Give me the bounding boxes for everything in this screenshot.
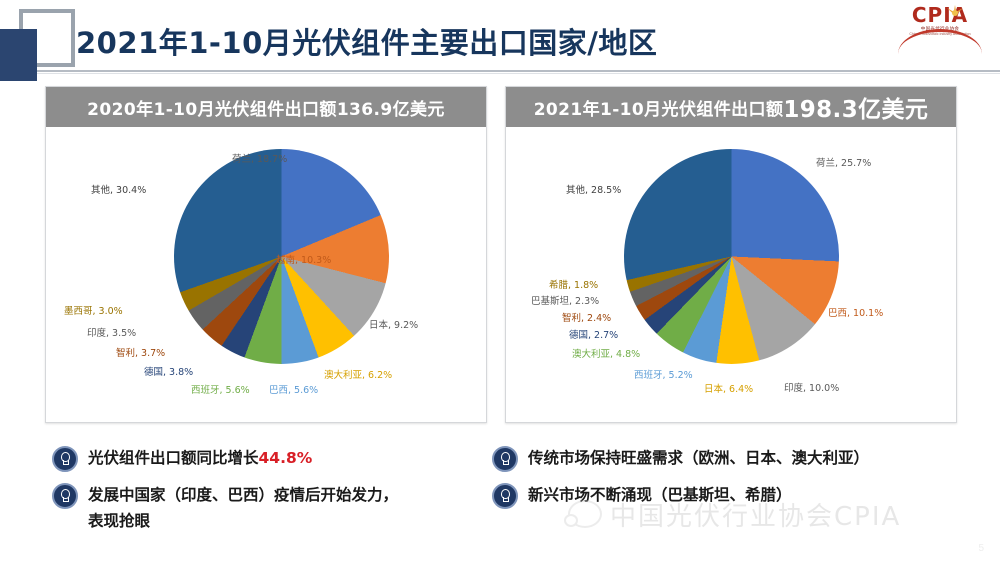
pie-label-2021-pakistan: 巴基斯坦, 2.3%: [531, 293, 599, 307]
pie-label-2021-brazil: 巴西, 10.1%: [828, 305, 883, 319]
bulb-badge-icon: [492, 483, 518, 509]
bullet-text-line1: 发展中国家（印度、巴西）疫情后开始发力，: [88, 486, 398, 504]
pie-label-2020-australia: 澳大利亚, 6.2%: [324, 367, 392, 381]
pie-label-2020-spain: 西班牙, 5.6%: [191, 382, 250, 396]
decorative-square-filled: [0, 29, 37, 81]
pie-label-2021-australia: 澳大利亚, 4.8%: [572, 346, 640, 360]
bullet-item: 光伏组件出口额同比增长44.8%: [52, 445, 482, 472]
bullet-item: 传统市场保持旺盛需求（欧洲、日本、澳大利亚）: [492, 445, 962, 472]
bullet-text: 光伏组件出口额同比增长44.8%: [88, 445, 312, 471]
pie-label-2021-germany: 德国, 2.7%: [569, 327, 618, 341]
header-divider-secondary: [37, 73, 1000, 74]
bullet-text-prefix: 光伏组件出口额同比增长: [88, 449, 259, 467]
pie-label-2021-chile: 智利, 2.4%: [562, 310, 611, 324]
bulb-badge-icon: [52, 446, 78, 472]
pie-label-2020-japan: 日本, 9.2%: [369, 317, 418, 331]
page-title: 2021年1-10月光伏组件主要出口国家/地区: [76, 20, 657, 62]
pie-label-2020-chile: 智利, 3.7%: [116, 345, 165, 359]
page-header: 2021年1-10月光伏组件主要出口国家/地区 CPIA 中国光伏行业协会 Ch…: [0, 0, 1000, 78]
cpia-logo: CPIA 中国光伏行业协会 China Photovoltaic Industr…: [892, 4, 988, 58]
pie-disc-2021: [624, 149, 839, 364]
pie-label-2020-others: 其他, 30.4%: [91, 182, 146, 196]
chart-title-2020: 2020年1-10月光伏组件出口额136.9亿美元: [46, 87, 486, 127]
chart-title-2021-value: 198.3亿美元: [783, 90, 928, 124]
bullet-list-left: 光伏组件出口额同比增长44.8% 发展中国家（印度、巴西）疫情后开始发力， 表现…: [52, 445, 482, 544]
header-divider: [37, 70, 1000, 72]
pie-label-2020-india: 印度, 3.5%: [87, 325, 136, 339]
pie-label-2021-greece: 希腊, 1.8%: [549, 277, 598, 291]
chart-body-2020: 荷兰, 18.7% 越南, 10.3% 日本, 9.2% 澳大利亚, 6.2% …: [46, 127, 486, 422]
pie-label-2020-vietnam: 越南, 10.3%: [276, 252, 331, 266]
bullet-highlight-value: 44.8%: [259, 449, 313, 467]
chart-title-2020-text: 2020年1-10月光伏组件出口额136.9亿美元: [87, 95, 445, 120]
pie-label-2021-netherlands: 荷兰, 25.7%: [816, 155, 871, 169]
chart-title-2021: 2021年1-10月光伏组件出口额198.3亿美元: [506, 87, 956, 127]
bullet-text: 发展中国家（印度、巴西）疫情后开始发力， 表现抢眼: [88, 482, 398, 534]
bullet-text-line2: 表现抢眼: [88, 512, 150, 530]
sun-rays-icon: [942, 5, 968, 17]
bullet-item: 新兴市场不断涌现（巴基斯坦、希腊）: [492, 482, 962, 509]
chart-panel-2020: 2020年1-10月光伏组件出口额136.9亿美元 荷兰, 18.7% 越南, …: [45, 86, 487, 423]
bullet-text: 新兴市场不断涌现（巴基斯坦、希腊）: [528, 482, 792, 508]
pie-label-2020-mexico: 墨西哥, 3.0%: [64, 303, 123, 317]
chart-panel-2021: 2021年1-10月光伏组件出口额198.3亿美元 荷兰, 25.7% 巴西, …: [505, 86, 957, 423]
pie-label-2021-india: 印度, 10.0%: [784, 380, 839, 394]
pie-chart-2021: [624, 149, 839, 364]
bulb-badge-icon: [52, 483, 78, 509]
page-number: 5: [978, 543, 984, 554]
pie-label-2020-brazil: 巴西, 5.6%: [269, 382, 318, 396]
bullet-list-right: 传统市场保持旺盛需求（欧洲、日本、澳大利亚） 新兴市场不断涌现（巴基斯坦、希腊）: [492, 445, 962, 519]
pie-label-2021-others: 其他, 28.5%: [566, 182, 621, 196]
pie-label-2020-germany: 德国, 3.8%: [144, 364, 193, 378]
bulb-badge-icon: [492, 446, 518, 472]
bullet-item: 发展中国家（印度、巴西）疫情后开始发力， 表现抢眼: [52, 482, 482, 534]
logo-mark: CPIA: [892, 4, 988, 26]
pie-label-2021-japan: 日本, 6.4%: [704, 381, 753, 395]
chart-body-2021: 荷兰, 25.7% 巴西, 10.1% 印度, 10.0% 日本, 6.4% 西…: [506, 127, 956, 422]
chart-title-2021-prefix: 2021年1-10月光伏组件出口额: [534, 95, 784, 120]
bullet-text: 传统市场保持旺盛需求（欧洲、日本、澳大利亚）: [528, 445, 869, 471]
pie-label-2021-spain: 西班牙, 5.2%: [634, 367, 693, 381]
pie-label-2020-netherlands: 荷兰, 18.7%: [232, 151, 287, 165]
